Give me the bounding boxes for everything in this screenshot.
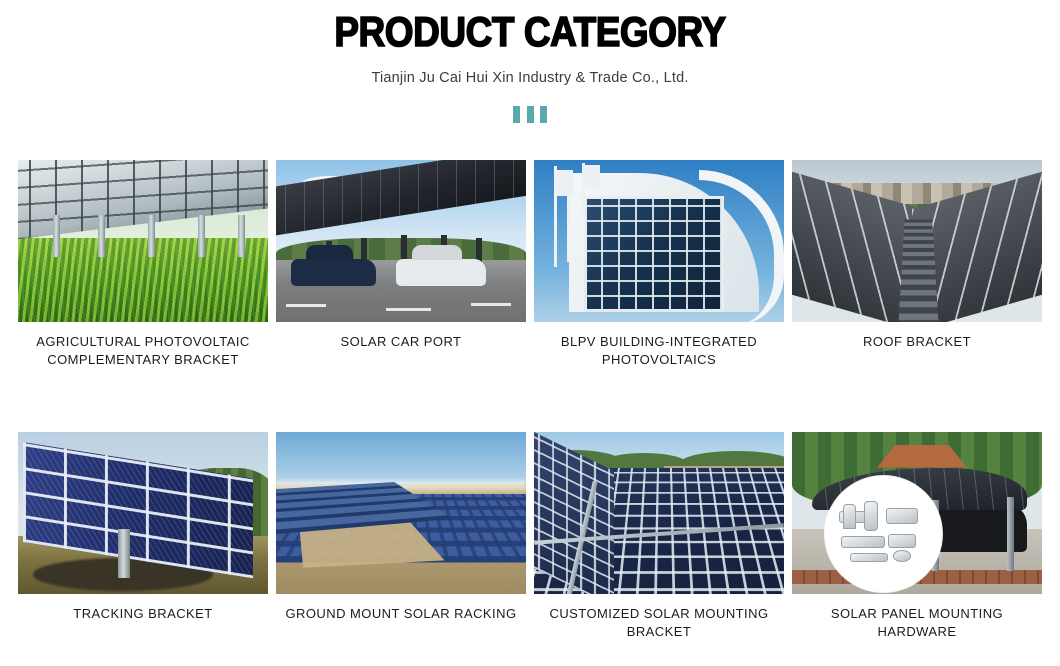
product-grid: AGRICULTURAL PHOTOVOLTAIC COMPLEMENTARY … — [18, 160, 1042, 641]
divider-bar-2 — [527, 106, 534, 123]
product-card-agricultural-photovoltaic-complementary-bracket[interactable]: AGRICULTURAL PHOTOVOLTAIC COMPLEMENTARY … — [18, 160, 268, 369]
hardware-closeup-inset — [825, 476, 943, 593]
product-card-label: SOLAR PANEL MOUNTING HARDWARE — [792, 605, 1042, 641]
blpv-building-integrated-photovoltaics-photo[interactable] — [534, 160, 784, 322]
page-title: PRODUCT CATEGORY — [64, 8, 997, 56]
company-subtitle: Tianjin Ju Cai Hui Xin Industry & Trade … — [0, 70, 1060, 86]
product-card-label: AGRICULTURAL PHOTOVOLTAIC COMPLEMENTARY … — [18, 333, 268, 369]
product-card-label: BLPV BUILDING-INTEGRATED PHOTOVOLTAICS — [534, 333, 784, 369]
divider-bars-icon — [513, 106, 547, 123]
agricultural-photovoltaic-complementary-bracket-photo[interactable] — [18, 160, 268, 322]
divider-bar-1 — [513, 106, 520, 123]
solar-panel-mounting-hardware-photo[interactable] — [792, 432, 1042, 594]
product-card-customized-solar-mounting-bracket[interactable]: CUSTOMIZED SOLAR MOUNTING BRACKET — [534, 432, 784, 641]
product-card-label: ROOF BRACKET — [792, 333, 1042, 351]
product-card-roof-bracket[interactable]: ROOF BRACKET — [792, 160, 1042, 369]
customized-solar-mounting-bracket-photo[interactable] — [534, 432, 784, 594]
product-card-label: CUSTOMIZED SOLAR MOUNTING BRACKET — [534, 605, 784, 641]
product-card-blpv-building-integrated-photovoltaics[interactable]: BLPV BUILDING-INTEGRATED PHOTOVOLTAICS — [534, 160, 784, 369]
product-card-label: GROUND MOUNT SOLAR RACKING — [276, 605, 526, 623]
ground-mount-solar-racking-photo[interactable] — [276, 432, 526, 594]
product-category-page: PRODUCT CATEGORY Tianjin Ju Cai Hui Xin … — [0, 0, 1060, 666]
solar-car-port-photo[interactable] — [276, 160, 526, 322]
page-header: PRODUCT CATEGORY Tianjin Ju Cai Hui Xin … — [0, 0, 1060, 123]
product-card-label: TRACKING BRACKET — [18, 605, 268, 623]
product-card-tracking-bracket[interactable]: TRACKING BRACKET — [18, 432, 268, 641]
roof-bracket-photo[interactable] — [792, 160, 1042, 322]
product-card-solar-panel-mounting-hardware[interactable]: SOLAR PANEL MOUNTING HARDWARE — [792, 432, 1042, 641]
product-card-ground-mount-solar-racking[interactable]: GROUND MOUNT SOLAR RACKING — [276, 432, 526, 641]
product-card-solar-car-port[interactable]: SOLAR CAR PORT — [276, 160, 526, 369]
product-card-label: SOLAR CAR PORT — [276, 333, 526, 351]
tracking-bracket-photo[interactable] — [18, 432, 268, 594]
divider-bar-3 — [540, 106, 547, 123]
